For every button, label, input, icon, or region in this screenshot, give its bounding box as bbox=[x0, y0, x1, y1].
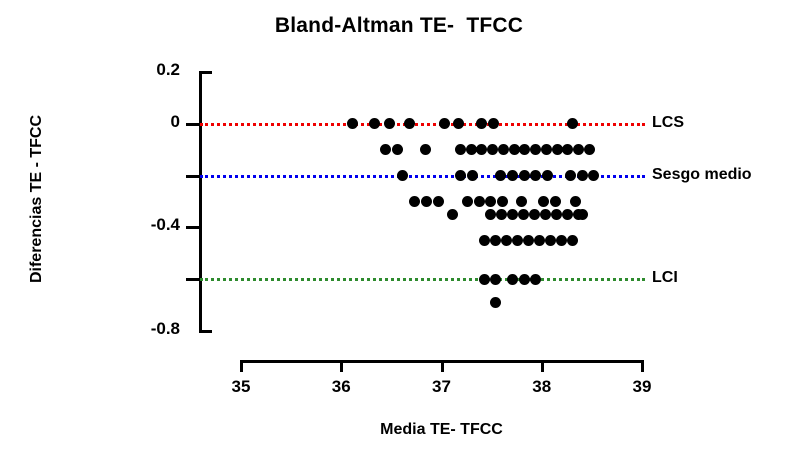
scatter-point bbox=[498, 144, 509, 155]
y-tick-mark bbox=[186, 123, 199, 126]
scatter-point bbox=[455, 144, 466, 155]
x-tick-label: 36 bbox=[318, 377, 364, 397]
scatter-point bbox=[507, 274, 518, 285]
scatter-point bbox=[384, 118, 395, 129]
scatter-point bbox=[476, 118, 487, 129]
scatter-point bbox=[453, 118, 464, 129]
scatter-point bbox=[409, 196, 420, 207]
scatter-point bbox=[490, 274, 501, 285]
reference-line bbox=[200, 278, 645, 281]
scatter-point bbox=[507, 209, 518, 220]
x-tick-label: 37 bbox=[419, 377, 465, 397]
scatter-point bbox=[507, 170, 518, 181]
scatter-point bbox=[479, 274, 490, 285]
scatter-point bbox=[490, 235, 501, 246]
y-tick-mark bbox=[199, 330, 212, 333]
scatter-point bbox=[562, 209, 573, 220]
scatter-point bbox=[447, 209, 458, 220]
scatter-point bbox=[421, 196, 432, 207]
scatter-point bbox=[455, 170, 466, 181]
scatter-point bbox=[497, 196, 508, 207]
scatter-point bbox=[404, 118, 415, 129]
reference-line bbox=[200, 123, 645, 126]
scatter-point bbox=[392, 144, 403, 155]
scatter-point bbox=[519, 144, 530, 155]
scatter-point bbox=[474, 196, 485, 207]
scatter-point bbox=[501, 235, 512, 246]
y-axis-line bbox=[199, 71, 202, 333]
scatter-point bbox=[512, 235, 523, 246]
scatter-point bbox=[516, 196, 527, 207]
scatter-point bbox=[433, 196, 444, 207]
x-tick-label: 35 bbox=[218, 377, 264, 397]
scatter-point bbox=[380, 144, 391, 155]
scatter-point bbox=[347, 118, 358, 129]
scatter-point bbox=[573, 144, 584, 155]
y-tick-label: 0 bbox=[128, 112, 180, 132]
scatter-point bbox=[556, 235, 567, 246]
scatter-point bbox=[530, 144, 541, 155]
y-tick-label: 0.2 bbox=[128, 60, 180, 80]
scatter-point bbox=[570, 196, 581, 207]
x-tick-mark bbox=[340, 360, 343, 372]
y-tick-mark bbox=[199, 71, 212, 74]
bland-altman-scatter-plot: Bland-Altman TE- TFCC Diferencias TE - T… bbox=[0, 0, 798, 456]
scatter-point bbox=[530, 170, 541, 181]
scatter-point bbox=[562, 144, 573, 155]
scatter-point bbox=[523, 235, 534, 246]
scatter-point bbox=[577, 209, 588, 220]
reference-line-label: LCS bbox=[652, 114, 684, 132]
scatter-point bbox=[567, 118, 578, 129]
scatter-point bbox=[519, 274, 530, 285]
scatter-point bbox=[490, 297, 501, 308]
y-tick-label: -0.4 bbox=[128, 215, 180, 235]
scatter-point bbox=[485, 196, 496, 207]
x-tick-mark bbox=[641, 360, 644, 372]
reference-line-label: LCI bbox=[652, 269, 678, 287]
scatter-point bbox=[538, 196, 549, 207]
scatter-point bbox=[487, 144, 498, 155]
scatter-point bbox=[496, 209, 507, 220]
x-tick-mark bbox=[240, 360, 243, 372]
scatter-point bbox=[519, 170, 530, 181]
scatter-point bbox=[495, 170, 506, 181]
scatter-point bbox=[479, 235, 490, 246]
scatter-point bbox=[488, 118, 499, 129]
y-tick-mark bbox=[186, 175, 199, 178]
scatter-point bbox=[485, 209, 496, 220]
scatter-point bbox=[529, 209, 540, 220]
scatter-point bbox=[540, 209, 551, 220]
scatter-point bbox=[588, 170, 599, 181]
scatter-point bbox=[462, 196, 473, 207]
y-tick-label: -0.8 bbox=[128, 319, 180, 339]
scatter-point bbox=[584, 144, 595, 155]
y-tick-mark bbox=[186, 278, 199, 281]
y-axis-label: Diferencias TE - TFCC bbox=[28, 54, 46, 344]
chart-title: Bland-Altman TE- TFCC bbox=[0, 14, 798, 38]
scatter-point bbox=[518, 209, 529, 220]
scatter-point bbox=[542, 170, 553, 181]
x-tick-mark bbox=[441, 360, 444, 372]
scatter-point bbox=[420, 144, 431, 155]
reference-line-label: Sesgo medio bbox=[652, 166, 752, 184]
x-tick-mark bbox=[541, 360, 544, 372]
scatter-point bbox=[550, 196, 561, 207]
scatter-point bbox=[534, 235, 545, 246]
scatter-point bbox=[397, 170, 408, 181]
scatter-point bbox=[467, 170, 478, 181]
x-axis-label: Media TE- TFCC bbox=[241, 421, 642, 439]
scatter-point bbox=[567, 235, 578, 246]
scatter-point bbox=[565, 170, 576, 181]
y-tick-mark bbox=[186, 226, 199, 229]
scatter-point bbox=[551, 209, 562, 220]
scatter-point bbox=[369, 118, 380, 129]
scatter-point bbox=[541, 144, 552, 155]
scatter-point bbox=[439, 118, 450, 129]
scatter-point bbox=[577, 170, 588, 181]
scatter-point bbox=[476, 144, 487, 155]
scatter-point bbox=[530, 274, 541, 285]
x-tick-label: 39 bbox=[619, 377, 665, 397]
scatter-point bbox=[545, 235, 556, 246]
x-tick-label: 38 bbox=[519, 377, 565, 397]
